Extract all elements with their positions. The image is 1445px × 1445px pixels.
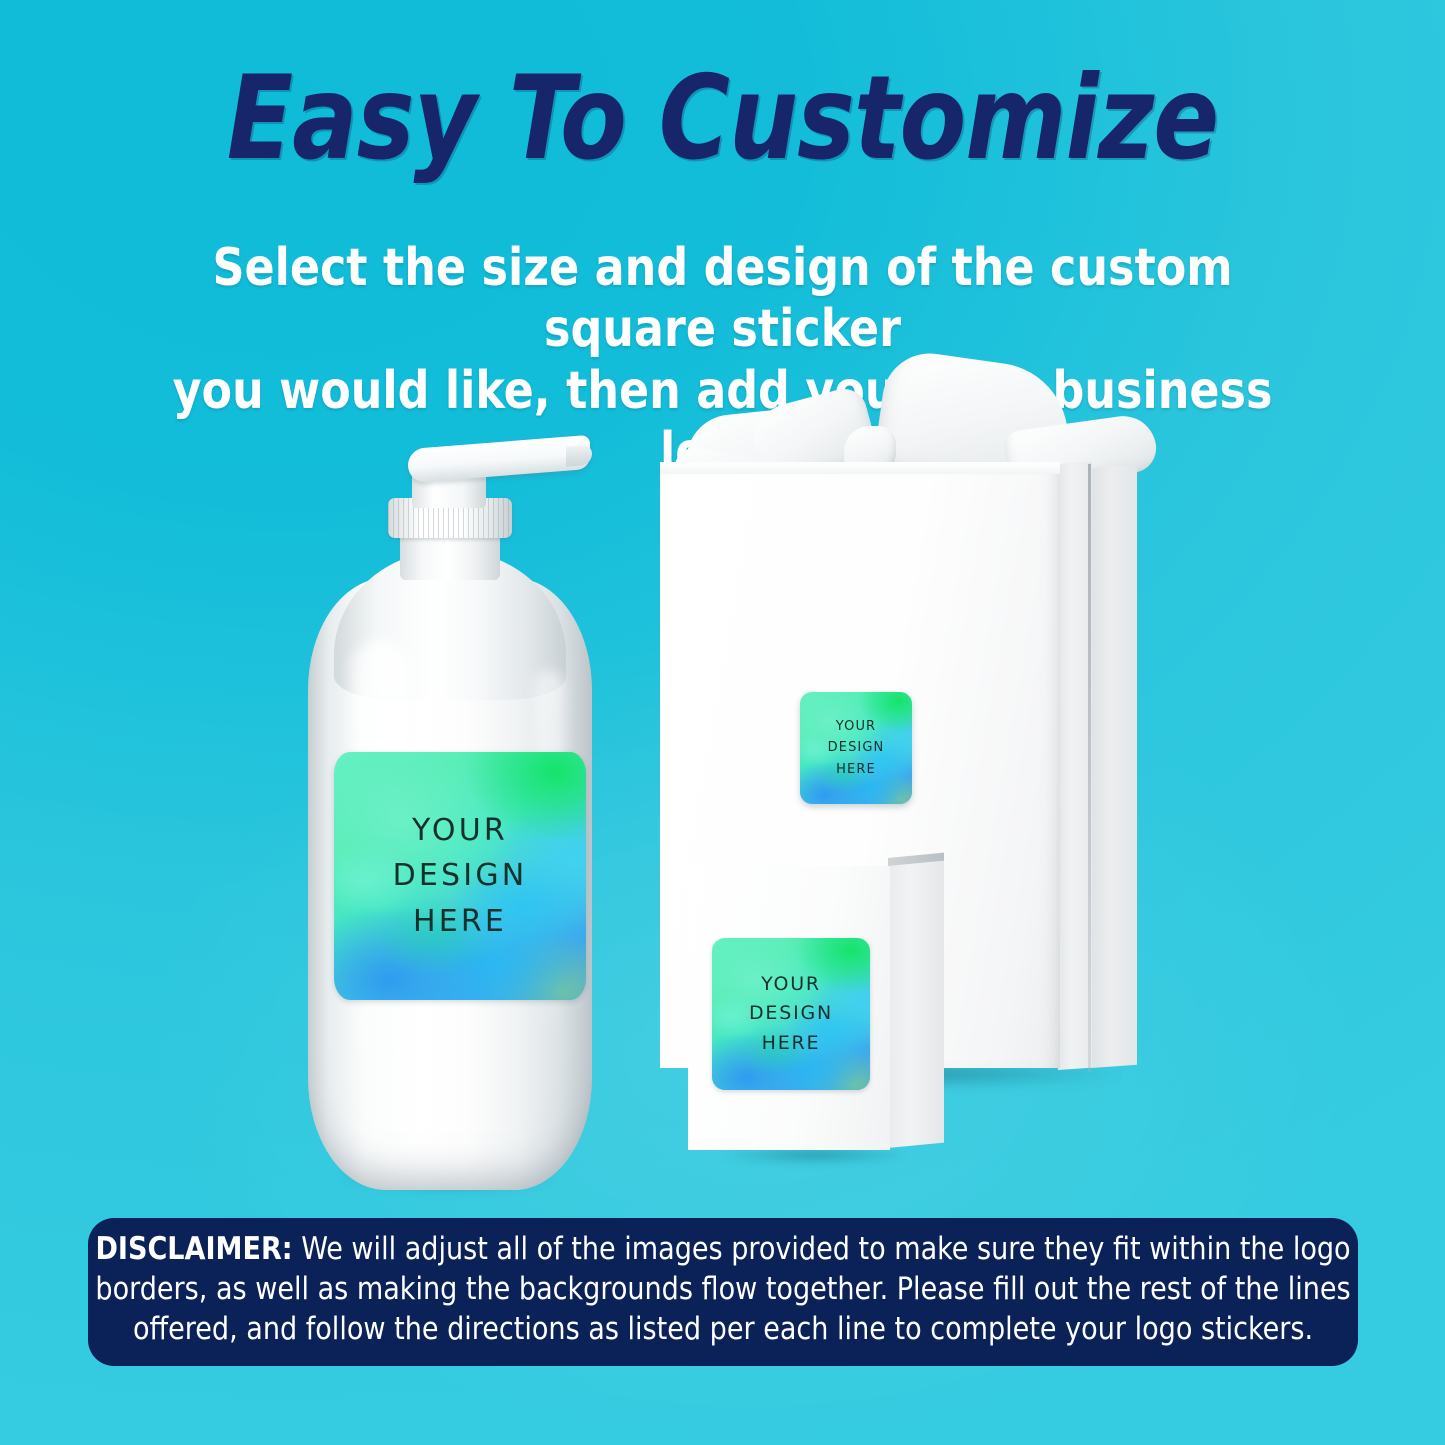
- disclaimer-line-1: DISCLAIMER: We will adjust all of the im…: [95, 1229, 1350, 1269]
- disclaimer-line-1-rest: We will adjust all of the images provide…: [293, 1231, 1351, 1267]
- gift-box-side-panel: [1091, 465, 1137, 1068]
- small-box-sticker-text: YOUR DESIGN HERE: [712, 938, 870, 1090]
- gift-box-sticker: YOUR DESIGN HERE: [800, 692, 912, 804]
- disclaimer-line-3: offered, and follow the directions as li…: [95, 1309, 1350, 1349]
- gift-box-top-edge: [660, 462, 1060, 474]
- sticker-line-3: HERE: [413, 899, 507, 945]
- gift-box-sticker-text: YOUR DESIGN HERE: [800, 692, 912, 804]
- subtitle-line-1: Select the size and design of the custom…: [136, 238, 1309, 361]
- gift-box-lid-edge: [1058, 462, 1092, 1070]
- small-box-sticker: YOUR DESIGN HERE: [712, 938, 870, 1090]
- disclaimer-label: DISCLAIMER:: [95, 1231, 292, 1267]
- gift-box-seam: [1088, 464, 1091, 1072]
- pump-dispenser-icon: [408, 435, 590, 483]
- sticker-line-1: YOUR: [761, 970, 821, 1000]
- sticker-line-2: DESIGN: [393, 853, 528, 899]
- disclaimer-text: DISCLAIMER: We will adjust all of the im…: [95, 1229, 1350, 1350]
- page-title: Easy To Customize: [51, 58, 1395, 181]
- promo-graphic: Easy To Customize Select the size and de…: [0, 0, 1445, 1445]
- sticker-line-3: HERE: [836, 759, 876, 780]
- sticker-line-3: HERE: [762, 1029, 821, 1059]
- disclaimer-banner: DISCLAIMER: We will adjust all of the im…: [88, 1218, 1358, 1366]
- sticker-line-2: DESIGN: [749, 999, 833, 1029]
- sticker-line-1: YOUR: [836, 716, 876, 737]
- small-box-side-panel: [888, 855, 944, 1148]
- sticker-line-1: YOUR: [412, 808, 508, 854]
- bottle-sticker-label: YOUR DESIGN HERE: [334, 752, 586, 1000]
- sticker-line-2: DESIGN: [828, 737, 885, 758]
- bottle-sticker-text: YOUR DESIGN HERE: [334, 752, 586, 1000]
- disclaimer-line-2: borders, as well as making the backgroun…: [95, 1269, 1350, 1309]
